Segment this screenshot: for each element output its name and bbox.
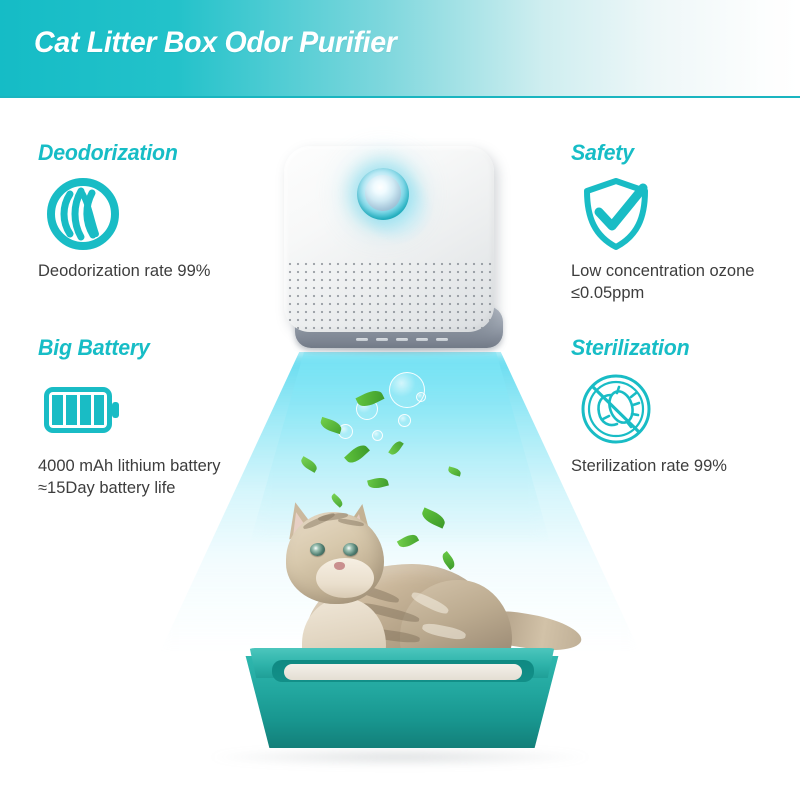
- cat-nose: [334, 562, 345, 570]
- air-vent-grille: [284, 258, 494, 332]
- led-indicator: [376, 338, 388, 341]
- page-title: Cat Litter Box Odor Purifier: [34, 26, 397, 60]
- bubble: [372, 430, 383, 441]
- infographic-page: Cat Litter Box Odor Purifier: [0, 0, 800, 800]
- led-indicator: [396, 338, 408, 341]
- power-button-core: [365, 175, 401, 211]
- feature-deodorization: Deodorization Deodorization rate 99%: [38, 140, 210, 282]
- cat-litter-scene: [0, 480, 800, 800]
- feature-title-big-battery: Big Battery: [38, 335, 215, 361]
- header-banner: Cat Litter Box Odor Purifier: [0, 0, 800, 98]
- feature-text-safety: Low concentration ozone ≤0.05ppm: [571, 260, 754, 305]
- power-button[interactable]: [357, 168, 409, 220]
- led-indicator: [356, 338, 368, 341]
- led-indicator: [416, 338, 428, 341]
- feature-title-deodorization: Deodorization: [38, 140, 205, 166]
- led-indicator: [436, 338, 448, 341]
- feature-title-safety: Safety: [571, 140, 749, 166]
- bubble: [398, 414, 411, 427]
- teal-litter-tray: [232, 648, 572, 768]
- feature-safety: Safety Low concentration ozone ≤0.05ppm: [571, 140, 754, 305]
- bubble: [389, 372, 425, 408]
- shield-check-icon: [573, 174, 659, 254]
- odor-waves-icon: [40, 174, 126, 254]
- feature-big-battery: Big Battery 4000 mAh lithium battery ≈15…: [38, 335, 221, 500]
- feature-text-sterilization: Sterilization rate 99%: [571, 455, 727, 477]
- feature-text-deodorization: Deodorization rate 99%: [38, 260, 210, 282]
- litter-fill: [284, 664, 522, 680]
- cat-muzzle: [316, 558, 374, 598]
- battery-full-icon: [40, 369, 126, 449]
- feature-title-sterilization: Sterilization: [571, 335, 722, 361]
- feature-sterilization: Sterilization Sterilization rate 99%: [571, 335, 727, 477]
- bubble: [416, 392, 426, 402]
- odor-purifier-device: [278, 146, 522, 366]
- no-bacteria-icon: [573, 369, 659, 449]
